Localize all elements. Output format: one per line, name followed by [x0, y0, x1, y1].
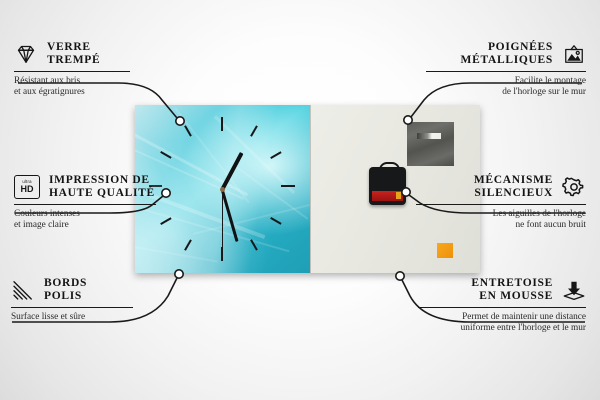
- ultra-hd-big-label: HD: [21, 185, 34, 194]
- feature-header: ENTRETOISE EN MOUSSE: [418, 277, 586, 303]
- gear-icon: [562, 176, 586, 198]
- feature-header: ultra HD IMPRESSION DE HAUTE QUALITÉ: [14, 174, 184, 200]
- feature-bords-polis: BORDS POLIS Surface lisse et sûre: [11, 277, 181, 323]
- feature-mecanisme-silencieux: MÉCANISME SILENCIEUX Les aiguilles de l'…: [416, 174, 586, 231]
- feature-desc: Facilite le montage de l'horloge sur le …: [426, 76, 586, 98]
- feature-title: POIGNÉES MÉTALLIQUES: [461, 41, 553, 67]
- feature-title: VERRE TREMPÉ: [47, 41, 100, 67]
- feature-desc: Les aiguilles de l'horloge ne font aucun…: [416, 209, 586, 231]
- feature-poignees-metalliques: POIGNÉES MÉTALLIQUES Facilite le montage…: [426, 41, 586, 98]
- marker-poignees: [404, 116, 412, 124]
- marker-verre-trempe: [176, 117, 184, 125]
- marker-entretoise: [396, 272, 404, 280]
- polished-edge-icon: [11, 279, 35, 301]
- feature-header: VERRE TREMPÉ: [14, 41, 174, 67]
- feature-title: BORDS POLIS: [44, 277, 87, 303]
- divider: [418, 307, 586, 308]
- feature-header: MÉCANISME SILENCIEUX: [416, 174, 586, 200]
- down-arrow-layer-icon: [562, 279, 586, 301]
- feature-desc: Résistant aux bris et aux égratignures: [14, 76, 174, 98]
- marker-mecanisme: [402, 188, 410, 196]
- feature-title: IMPRESSION DE HAUTE QUALITÉ: [49, 174, 155, 200]
- feature-header: BORDS POLIS: [11, 277, 181, 303]
- divider: [14, 204, 156, 205]
- feature-impression-haute-qualite: ultra HD IMPRESSION DE HAUTE QUALITÉ Cou…: [14, 174, 184, 231]
- divider: [11, 307, 133, 308]
- divider: [426, 71, 586, 72]
- feature-title: MÉCANISME SILENCIEUX: [474, 174, 553, 200]
- feature-header: POIGNÉES MÉTALLIQUES: [426, 41, 586, 67]
- infographic-canvas: VERRE TREMPÉ Résistant aux bris et aux é…: [0, 0, 600, 400]
- feature-entretoise-en-mousse: ENTRETOISE EN MOUSSE Permet de maintenir…: [418, 277, 586, 334]
- feature-title: ENTRETOISE EN MOUSSE: [471, 277, 553, 303]
- divider: [14, 71, 130, 72]
- ultra-hd-badge-icon: ultra HD: [14, 175, 40, 199]
- diamond-icon: [14, 43, 38, 65]
- feature-desc: Surface lisse et sûre: [11, 312, 181, 323]
- picture-frame-icon: [562, 43, 586, 65]
- feature-verre-trempe: VERRE TREMPÉ Résistant aux bris et aux é…: [14, 41, 174, 98]
- feature-desc: Couleurs intenses et image claire: [14, 209, 184, 231]
- feature-desc: Permet de maintenir une distance uniform…: [418, 312, 586, 334]
- divider: [416, 204, 586, 205]
